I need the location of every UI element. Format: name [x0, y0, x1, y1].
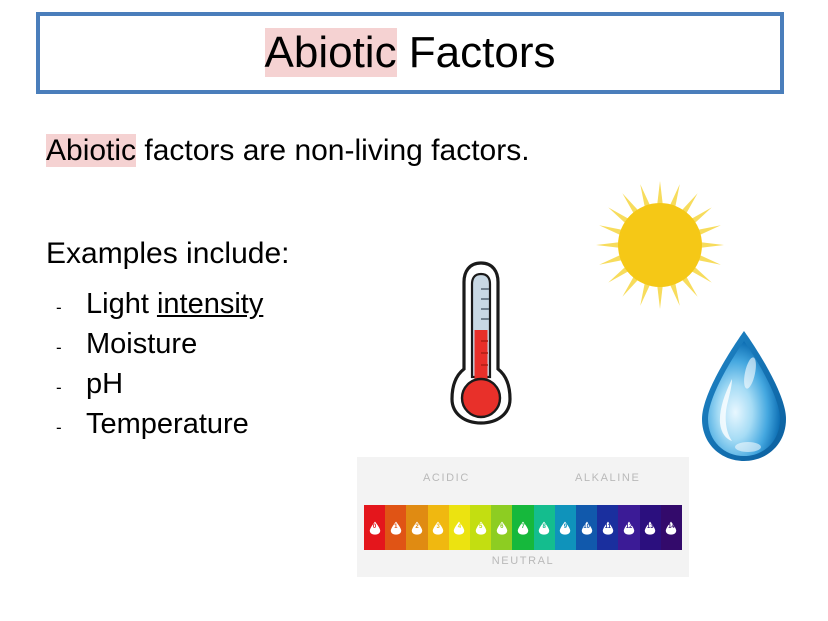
ph-value-label: 8 — [538, 524, 550, 530]
list-item-underlined: intensity — [157, 288, 263, 320]
ph-value-drop-icon: 12 — [623, 521, 635, 535]
intro-highlighted-word: Abiotic — [46, 134, 136, 167]
ph-color-bands: 01234567891011121314 — [364, 505, 682, 550]
list-item-prefix: Light — [86, 288, 157, 320]
ph-band: 5 — [470, 505, 491, 550]
list-item: - Temperature — [56, 408, 263, 448]
list-item: - Light intensity — [56, 288, 263, 328]
ph-value-drop-icon: 10 — [581, 521, 593, 535]
bullet-marker-icon: - — [56, 418, 86, 438]
ph-value-drop-icon: 3 — [432, 521, 444, 535]
ph-value-label: 14 — [665, 524, 677, 530]
list-item-label: Moisture — [86, 328, 197, 361]
ph-acidic-label: ACIDIC — [423, 472, 470, 484]
ph-value-label: 9 — [559, 524, 571, 530]
ph-value-drop-icon: 14 — [665, 521, 677, 535]
ph-value-label: 11 — [602, 524, 614, 530]
ph-band: 4 — [449, 505, 470, 550]
ph-value-drop-icon: 1 — [390, 521, 402, 535]
title-highlighted-word: Abiotic — [265, 28, 397, 77]
ph-band: 9 — [555, 505, 576, 550]
list-item-label: pH — [86, 368, 123, 401]
examples-heading: Examples include: — [46, 237, 289, 271]
list-item-prefix: Temperature — [86, 408, 249, 440]
list-item-prefix: pH — [86, 368, 123, 400]
ph-value-drop-icon: 13 — [644, 521, 656, 535]
ph-value-label: 4 — [453, 524, 465, 530]
ph-value-label: 1 — [390, 524, 402, 530]
examples-list: - Light intensity - Moisture - pH - Temp… — [56, 288, 263, 448]
ph-value-label: 6 — [496, 524, 508, 530]
ph-band: 3 — [428, 505, 449, 550]
ph-band: 8 — [534, 505, 555, 550]
ph-band: 6 — [491, 505, 512, 550]
ph-value-drop-icon: 11 — [602, 521, 614, 535]
slide-title-box: Abiotic Factors — [36, 12, 784, 94]
ph-value-drop-icon: 9 — [559, 521, 571, 535]
list-item: - pH — [56, 368, 263, 408]
ph-value-label: 7 — [517, 524, 529, 530]
list-item-prefix: Moisture — [86, 328, 197, 360]
ph-value-label: 2 — [411, 524, 423, 530]
ph-band: 13 — [640, 505, 661, 550]
ph-value-label: 3 — [432, 524, 444, 530]
ph-value-label: 13 — [644, 524, 656, 530]
ph-value-label: 5 — [475, 524, 487, 530]
ph-alkaline-label: ALKALINE — [575, 472, 640, 484]
bullet-marker-icon: - — [56, 378, 86, 398]
ph-band: 14 — [661, 505, 682, 550]
intro-rest: factors are non-living factors. — [136, 134, 530, 167]
ph-value-drop-icon: 7 — [517, 521, 529, 535]
ph-scale-graphic: ACIDIC ALKALINE 01234567891011121314 NEU… — [357, 457, 689, 577]
ph-value-label: 10 — [581, 524, 593, 530]
ph-band: 0 — [364, 505, 385, 550]
ph-value-drop-icon: 8 — [538, 521, 550, 535]
list-item-label: Temperature — [86, 408, 249, 441]
intro-sentence: Abiotic factors are non-living factors. — [46, 134, 530, 168]
ph-band: 11 — [597, 505, 618, 550]
ph-value-drop-icon: 5 — [475, 521, 487, 535]
list-item-label: Light intensity — [86, 288, 263, 321]
title-rest: Factors — [397, 28, 556, 77]
ph-value-drop-icon: 2 — [411, 521, 423, 535]
ph-scale-top-labels: ACIDIC ALKALINE — [357, 472, 689, 488]
ph-value-drop-icon: 6 — [496, 521, 508, 535]
bullet-marker-icon: - — [56, 338, 86, 358]
page-title: Abiotic Factors — [265, 31, 556, 75]
ph-band: 12 — [618, 505, 639, 550]
ph-band: 10 — [576, 505, 597, 550]
ph-value-label: 12 — [623, 524, 635, 530]
sun-icon — [592, 180, 728, 310]
ph-neutral-label: NEUTRAL — [357, 555, 689, 567]
ph-value-label: 0 — [369, 524, 381, 530]
ph-band: 1 — [385, 505, 406, 550]
ph-value-drop-icon: 0 — [369, 521, 381, 535]
bullet-marker-icon: - — [56, 298, 86, 318]
ph-value-drop-icon: 4 — [453, 521, 465, 535]
ph-band: 2 — [406, 505, 427, 550]
ph-band: 7 — [512, 505, 533, 550]
thermometer-icon — [443, 255, 519, 431]
list-item: - Moisture — [56, 328, 263, 368]
water-drop-icon — [692, 327, 796, 465]
